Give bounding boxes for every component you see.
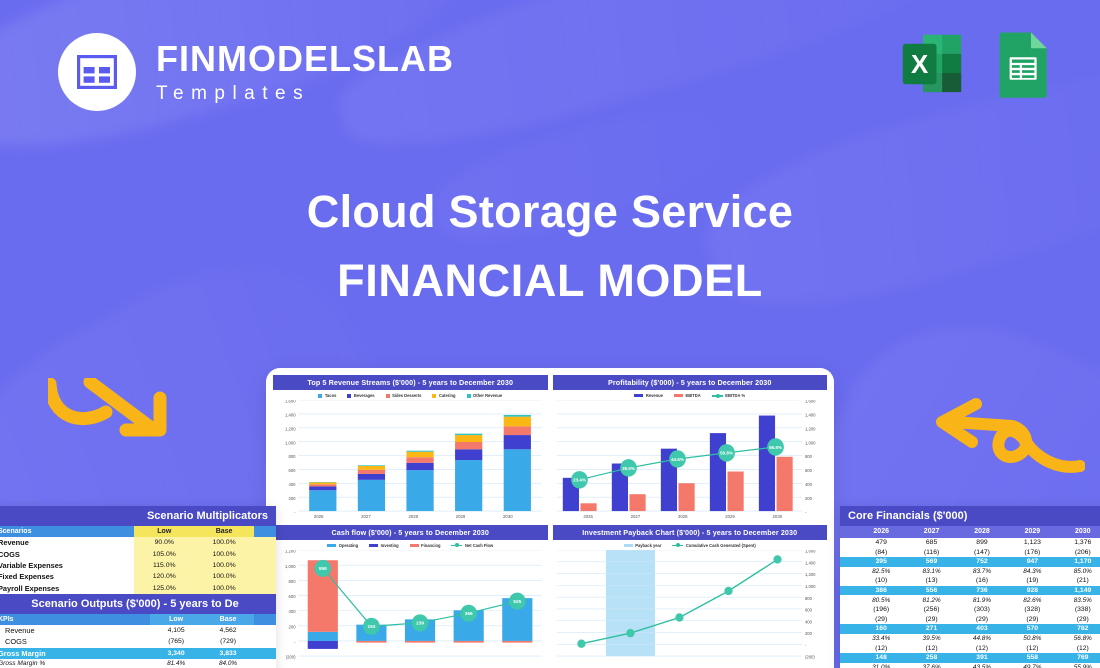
table-cell: 50.8% <box>1007 634 1057 644</box>
table-cell: 82.6% <box>1007 595 1057 605</box>
table-cell: 148 <box>856 653 906 663</box>
svg-text:23.4%: 23.4% <box>573 478 586 483</box>
table-cell: 569 <box>906 557 956 567</box>
svg-text:1,400: 1,400 <box>285 413 296 418</box>
panel-title: Top 5 Revenue Streams ($'000) - 5 years … <box>273 375 548 390</box>
grid-table-icon <box>77 55 117 89</box>
svg-text:366: 366 <box>465 611 473 617</box>
legend-item: Financing <box>410 543 441 548</box>
scenario-outputs-table[interactable]: KPIs Low Base Revenue4,1054,562 COGS(765… <box>0 614 276 668</box>
table-cell: (29) <box>906 615 956 625</box>
legend-item: Cumulative Cash Generated (Spent) <box>672 543 755 548</box>
table-cell: 736 <box>957 586 1007 596</box>
legend-item: Revenue <box>634 393 663 398</box>
svg-text:(200): (200) <box>804 655 814 660</box>
core-financials-table[interactable]: 2026 2027 2028 2029 2030 4796858991,1231… <box>840 526 1100 668</box>
legend-item: Operating <box>327 543 358 548</box>
legend-item: Investing <box>369 543 398 548</box>
table-cell: (196) <box>856 605 906 615</box>
col-kpis: KPIs <box>0 614 150 625</box>
table-cell: 83.1% <box>906 567 956 577</box>
table-row: Variable Expenses115.0%100.0% <box>0 560 276 571</box>
panel-title: Cash flow ($'000) - 5 years to December … <box>273 525 548 540</box>
svg-text:800: 800 <box>804 596 812 601</box>
table-cell: 160 <box>856 624 906 634</box>
hero-title-line2: FINANCIAL MODEL <box>0 255 1100 307</box>
scenario-multiplicators-banner: Scenario Multiplicators <box>0 506 276 526</box>
panel-title: Investment Payback Chart ($'000) - 5 yea… <box>553 525 828 540</box>
svg-text:1,200: 1,200 <box>285 550 296 554</box>
table-cell: 271 <box>906 624 956 634</box>
table-row: (84)(116)(147)(176)(206) <box>840 547 1100 557</box>
microsoft-excel-icon: X <box>896 28 968 100</box>
table-cell: (29) <box>957 615 1007 625</box>
table-cell: (13) <box>906 576 956 586</box>
table-cell: 258 <box>906 653 956 663</box>
table-row: 3955697529471,170 <box>840 557 1100 567</box>
squiggly-arrow-left-icon <box>920 382 1085 477</box>
svg-text:193: 193 <box>368 624 376 630</box>
table-row: Fixed Expenses120.0%100.0% <box>0 571 276 582</box>
table-row: COGS105.0%100.0% <box>0 548 276 559</box>
scenario-multiplicators-table[interactable]: Scenarios Low Base Revenue90.0%100.0% CO… <box>0 526 276 594</box>
legend-item: Payback year <box>624 543 662 548</box>
svg-text:200: 200 <box>289 496 297 501</box>
table-cell: (29) <box>1058 615 1100 625</box>
table-row: (196)(256)(303)(328)(338) <box>840 605 1100 615</box>
svg-text:-: - <box>804 510 806 513</box>
brand-subtitle: Templates <box>156 84 454 103</box>
table-row: 3865567369281,149 <box>840 586 1100 596</box>
table-header-row: KPIs Low Base <box>0 614 276 625</box>
svg-text:1,600: 1,600 <box>285 400 296 404</box>
col-year: 2027 <box>906 526 956 538</box>
col-year: 2030 <box>1058 526 1100 538</box>
svg-text:800: 800 <box>289 454 297 459</box>
panel-investment-payback[interactable]: Investment Payback Chart ($'000) - 5 yea… <box>553 525 828 668</box>
chart-plot-revenue-streams: 1,6001,4001,2001,000800600400200- <box>273 400 548 513</box>
table-cell: 752 <box>957 557 1007 567</box>
svg-text:200: 200 <box>289 624 297 629</box>
svg-text:958: 958 <box>319 566 327 572</box>
table-cell: (12) <box>856 643 906 653</box>
svg-text:800: 800 <box>804 454 812 459</box>
svg-text:1,400: 1,400 <box>804 560 815 565</box>
svg-text:200: 200 <box>804 496 812 501</box>
panel-title: Profitability ($'000) - 5 years to Decem… <box>553 375 828 390</box>
table-row: 160271403570782 <box>840 624 1100 634</box>
table-cell: (12) <box>957 643 1007 653</box>
table-cell: (19) <box>1007 576 1057 586</box>
panel-profitability[interactable]: Profitability ($'000) - 5 years to Decem… <box>553 375 828 519</box>
legend-item: Beverages <box>347 393 374 398</box>
core-financials-panel[interactable]: Core Financials ($'000) 2026 2027 2028 2… <box>840 506 1100 668</box>
table-row: Revenue90.0%100.0% <box>0 537 276 548</box>
table-row: Gross Margin3,3403,833 <box>0 648 276 659</box>
table-cell: 44.8% <box>957 634 1007 644</box>
svg-text:-: - <box>294 510 296 513</box>
x-axis-labels: 20262027 20282029 2030 <box>553 514 828 519</box>
table-cell: 1,376 <box>1058 538 1100 548</box>
table-cell: (16) <box>957 576 1007 586</box>
col-low: Low <box>134 526 194 537</box>
table-cell: (256) <box>906 605 956 615</box>
table-cell: 556 <box>906 586 956 596</box>
table-cell: 1,123 <box>1007 538 1057 548</box>
table-row: (12)(12)(12)(12)(12) <box>840 643 1100 653</box>
scenario-outputs-banner: Scenario Outputs ($'000) - 5 years to De <box>0 594 276 614</box>
table-header-row: Scenarios Low Base <box>0 526 276 537</box>
table-cell: (303) <box>957 605 1007 615</box>
table-cell: 39.5% <box>906 634 956 644</box>
svg-text:1,200: 1,200 <box>285 427 296 432</box>
svg-text:(200): (200) <box>286 655 296 660</box>
svg-text:35.5%: 35.5% <box>622 466 635 471</box>
table-cell: 83.7% <box>957 567 1007 577</box>
brand-logo[interactable]: FINMODELSLAB Templates <box>58 33 454 111</box>
col-year: 2026 <box>856 526 906 538</box>
col-year: 2028 <box>957 526 1007 538</box>
table-row: 82.5%83.1%83.7%84.3%85.0% <box>840 567 1100 577</box>
svg-text:1,000: 1,000 <box>285 441 296 446</box>
legend-item: Catering <box>432 393 455 398</box>
table-row: 148258391558769 <box>840 653 1100 663</box>
table-row: COGS(765)(729) <box>0 636 276 647</box>
brand-name: FINMODELSLAB <box>156 41 454 77</box>
legend-item: Net Cash Flow <box>451 543 493 548</box>
svg-text:1,000: 1,000 <box>804 584 815 589</box>
chart-legend: Operating Investing Financing Net Cash F… <box>273 540 548 550</box>
table-row: Revenue4,1054,562 <box>0 625 276 636</box>
svg-text:525: 525 <box>513 599 521 605</box>
chart-legend: Payback year Cumulative Cash Generated (… <box>553 540 828 550</box>
svg-text:400: 400 <box>289 482 297 487</box>
table-cell: (12) <box>906 643 956 653</box>
table-cell: (328) <box>1007 605 1057 615</box>
panel-revenue-streams[interactable]: Top 5 Revenue Streams ($'000) - 5 years … <box>273 375 548 519</box>
table-cell: 391 <box>957 653 1007 663</box>
legend-item: Tacos <box>318 393 336 398</box>
svg-text:X: X <box>911 51 929 79</box>
table-cell: 479 <box>856 538 906 548</box>
svg-text:1,600: 1,600 <box>804 400 815 404</box>
table-cell: 81.9% <box>957 595 1007 605</box>
table-cell: 558 <box>1007 653 1057 663</box>
table-cell: 1,149 <box>1058 586 1100 596</box>
table-cell: 49.7% <box>1007 663 1057 668</box>
svg-text:1,200: 1,200 <box>804 427 815 432</box>
table-cell: (84) <box>856 547 906 557</box>
col-base: Base <box>202 614 254 625</box>
svg-text:1,200: 1,200 <box>804 572 815 577</box>
table-header-row: 2026 2027 2028 2029 2030 <box>840 526 1100 538</box>
legend-item: Other Revenue <box>467 393 503 398</box>
table-cell: 56.8% <box>1058 634 1100 644</box>
table-cell: 769 <box>1058 653 1100 663</box>
table-cell: 386 <box>856 586 906 596</box>
table-cell: 83.5% <box>1058 595 1100 605</box>
table-cell: 782 <box>1058 624 1100 634</box>
col-year: 2029 <box>1007 526 1057 538</box>
legend-item: Sides Desserts <box>386 393 422 398</box>
table-cell: (12) <box>1058 643 1100 653</box>
table-cell: (29) <box>1007 615 1057 625</box>
table-cell: 80.5% <box>856 595 906 605</box>
table-row: 4796858991,1231,376 <box>840 538 1100 548</box>
svg-text:1,000: 1,000 <box>285 564 296 569</box>
table-cell: 33.4% <box>856 634 906 644</box>
table-cell: 685 <box>906 538 956 548</box>
table-cell: 81.2% <box>906 595 956 605</box>
svg-text:1,000: 1,000 <box>804 441 815 446</box>
col-scenarios: Scenarios <box>0 526 134 537</box>
table-cell: (12) <box>1007 643 1057 653</box>
svg-text:50.8%: 50.8% <box>720 451 733 456</box>
table-cell: 84.3% <box>1007 567 1057 577</box>
table-row: (29)(29)(29)(29)(29) <box>840 615 1100 625</box>
panel-cash-flow[interactable]: Cash flow ($'000) - 5 years to December … <box>273 525 548 668</box>
legend-item: EBITDA <box>674 393 701 398</box>
chart-plot-profitability: 1,6001,4001,2001,000800600400200-23.4%35… <box>553 400 828 513</box>
table-cell: 43.5% <box>957 663 1007 668</box>
table-cell: 1,170 <box>1058 557 1100 567</box>
col-low: Low <box>150 614 202 625</box>
table-cell: (147) <box>957 547 1007 557</box>
table-row: Gross Margin %81.4%84.0% <box>0 659 276 668</box>
svg-text:400: 400 <box>289 609 297 614</box>
chart-plot-cash-flow: 1,2001,000800600400200-(200)958193239366… <box>273 550 548 668</box>
chart-legend: Revenue EBITDA EBITDA % <box>553 390 828 400</box>
svg-text:239: 239 <box>416 620 424 626</box>
table-cell: 947 <box>1007 557 1057 567</box>
svg-text:1,600: 1,600 <box>804 550 815 554</box>
svg-text:600: 600 <box>804 607 812 612</box>
svg-text:800: 800 <box>289 579 297 584</box>
table-cell: (10) <box>856 576 906 586</box>
svg-text:1,400: 1,400 <box>804 413 815 418</box>
table-cell: (21) <box>1058 576 1100 586</box>
chart-plot-investment-payback: 1,6001,4001,2001,000800600400200-(200) <box>553 550 828 668</box>
app-icons-group: X <box>896 28 1058 100</box>
table-cell: 570 <box>1007 624 1057 634</box>
svg-text:600: 600 <box>289 468 297 473</box>
svg-text:44.6%: 44.6% <box>671 457 684 462</box>
scenario-tables[interactable]: Scenario Multiplicators Scenarios Low Ba… <box>0 506 276 668</box>
table-cell: 55.9% <box>1058 663 1100 668</box>
hero-title-line1: Cloud Storage Service <box>0 186 1100 238</box>
table-cell: (206) <box>1058 547 1100 557</box>
table-cell: (116) <box>906 547 956 557</box>
curved-arrow-down-right-icon <box>48 378 188 478</box>
google-sheets-icon <box>986 28 1058 100</box>
table-cell: 37.6% <box>906 663 956 668</box>
svg-text:600: 600 <box>289 594 297 599</box>
table-cell: 82.5% <box>856 567 906 577</box>
table-row: Payroll Expenses125.0%100.0% <box>0 583 276 594</box>
table-cell: 403 <box>957 624 1007 634</box>
chart-legend: Tacos Beverages Sides Desserts Catering … <box>273 390 548 400</box>
table-cell: (29) <box>856 615 906 625</box>
table-row: 80.5%81.2%81.9%82.6%83.5% <box>840 595 1100 605</box>
table-row: (10)(13)(16)(19)(21) <box>840 576 1100 586</box>
svg-text:400: 400 <box>804 482 812 487</box>
svg-text:-: - <box>294 639 296 644</box>
table-cell: 31.0% <box>856 663 906 668</box>
svg-text:400: 400 <box>804 619 812 624</box>
svg-text:600: 600 <box>804 468 812 473</box>
col-base: Base <box>194 526 254 537</box>
svg-text:200: 200 <box>804 631 812 636</box>
table-row: 31.0%37.6%43.5%49.7%55.9% <box>840 663 1100 668</box>
svg-text:56.8%: 56.8% <box>769 445 782 450</box>
dashboard-preview[interactable]: Top 5 Revenue Streams ($'000) - 5 years … <box>266 368 834 668</box>
x-axis-labels: 20262027 20282029 2030 <box>273 514 548 519</box>
table-cell: 395 <box>856 557 906 567</box>
table-cell: 85.0% <box>1058 567 1100 577</box>
svg-text:-: - <box>804 643 806 648</box>
logo-circle <box>58 33 136 111</box>
core-financials-banner: Core Financials ($'000) <box>840 506 1100 526</box>
table-row: 33.4%39.5%44.8%50.8%56.8% <box>840 634 1100 644</box>
table-cell: 899 <box>957 538 1007 548</box>
table-cell: 928 <box>1007 586 1057 596</box>
legend-item: EBITDA % <box>712 393 745 398</box>
hero-title-block: Cloud Storage Service FINANCIAL MODEL <box>0 186 1100 307</box>
table-cell: (338) <box>1058 605 1100 615</box>
table-cell: (176) <box>1007 547 1057 557</box>
